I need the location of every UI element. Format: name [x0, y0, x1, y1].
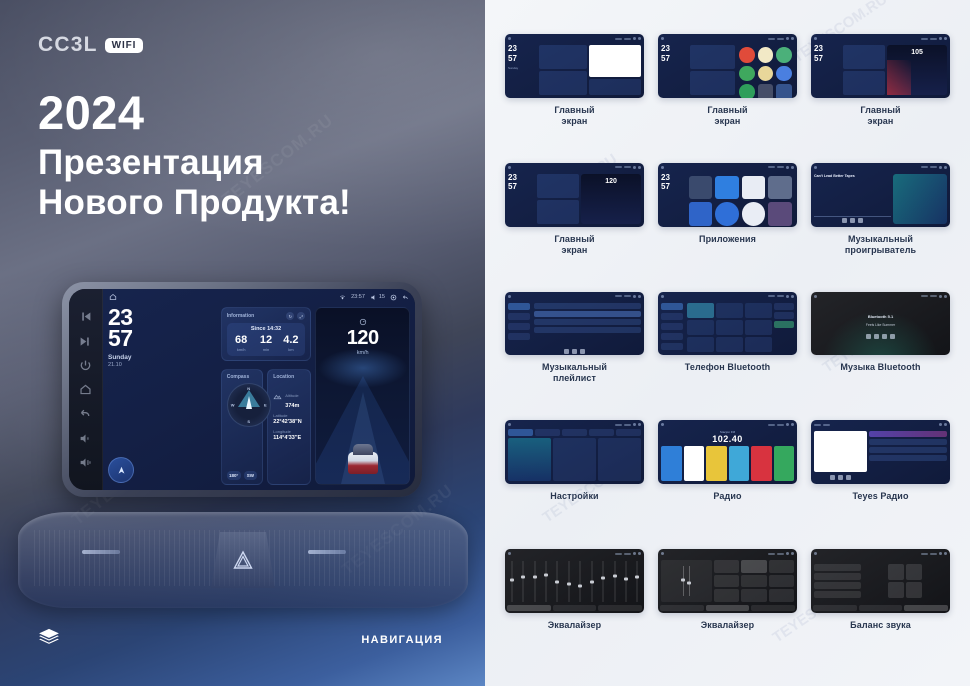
thumb-status-bar [658, 163, 797, 172]
longitude-label: Longitude [273, 429, 305, 434]
location-title: Location [273, 374, 305, 380]
thumb-body [505, 301, 644, 349]
thumb-status-bar [658, 292, 797, 301]
tile-caption: Эквалайзер [548, 620, 601, 631]
hud-speed-unit: km/h [316, 350, 409, 356]
thumb-clock-min: 57 [661, 55, 688, 63]
playlist-controls[interactable] [505, 348, 644, 355]
compass-south-label: S [247, 419, 250, 424]
thumb-status-bar [658, 420, 797, 429]
thumb-clock: 23 [508, 45, 537, 53]
home-screen-body: 23 57 Sunday 21.10 Information [103, 305, 415, 490]
headline-line-1: Презентация [38, 143, 351, 184]
unit-screen: 23:57 15 23 57 Sunday 21.10 [103, 289, 415, 490]
tile-equalizer-bands[interactable]: Эквалайзер [505, 549, 644, 668]
refresh-icon[interactable]: ↻ [286, 312, 294, 320]
vent-highlight-left [82, 550, 120, 554]
hud-speed-value: 120 [316, 328, 409, 348]
altitude-row: Altitude 374m [273, 384, 305, 409]
tile-playlist[interactable]: Музыкальный плейлист [505, 292, 644, 411]
information-title: Information [227, 313, 255, 319]
tile-caption: Музыка Bluetooth [840, 362, 920, 373]
hardware-button-column[interactable] [69, 289, 103, 490]
thumb-clock: 23 [661, 45, 688, 53]
thumb-body: 2357Sunday [505, 43, 644, 98]
balance-seat-grid[interactable] [888, 564, 922, 598]
thumb-status-bar [658, 549, 797, 558]
headline: 2024 Презентация Нового Продукта! [38, 88, 351, 224]
thumb-clock-min: 57 [508, 55, 537, 63]
stat-value: 68 [229, 335, 254, 346]
tile-caption: Главный экран [554, 105, 594, 127]
thumb-status-bar [505, 420, 644, 429]
player-controls[interactable] [814, 217, 891, 224]
thumb-status-bar [811, 163, 950, 172]
latitude-value: 22°42'38"N [273, 419, 305, 425]
tile-caption: Телефон Bluetooth [685, 362, 771, 373]
compass-readout: 180° SW [227, 468, 258, 480]
playlist-sidebar[interactable] [508, 303, 532, 346]
bt-version-label: Bluetooth 5.1 [868, 314, 893, 319]
volume-icon [370, 294, 377, 301]
thumb-status-bar [505, 34, 644, 43]
navigation-button[interactable] [108, 457, 134, 483]
radio-presets[interactable] [658, 444, 797, 484]
layers-icon[interactable] [38, 628, 60, 646]
speed-icon [359, 318, 367, 326]
information-actions[interactable]: ↻ ⤢ [286, 312, 305, 320]
status-volume-value: 15 [379, 294, 385, 300]
home-icon[interactable] [109, 293, 117, 301]
lower-widgets: Compass N E S W [221, 369, 312, 485]
gear-icon[interactable] [390, 294, 397, 301]
information-stats: 68 km/h 12 min 4.2 [229, 335, 304, 352]
stat-unit: km/h [229, 347, 254, 352]
tile-sound-balance[interactable]: Баланс звука [811, 549, 950, 668]
navigation-arrow-icon [116, 465, 127, 476]
dialer-sidebar[interactable] [661, 303, 685, 353]
preset-grid[interactable] [714, 560, 794, 602]
tile-bluetooth-phone[interactable]: Телефон Bluetooth [658, 292, 797, 411]
tile-caption: Главный экран [860, 105, 900, 127]
thumb-body: 2357 [658, 43, 797, 98]
hud-panel[interactable]: 120 km/h [315, 307, 410, 485]
teyes-controls[interactable] [814, 474, 867, 481]
thumbnail[interactable] [505, 292, 644, 356]
stat-value: 4.2 [278, 335, 303, 346]
thumb-body [505, 436, 644, 484]
clock-column: 23 57 Sunday 21.10 [108, 307, 217, 485]
thumb-status-bar [658, 34, 797, 43]
latitude-label: Latitude [273, 413, 305, 418]
equalizer-tabs[interactable] [811, 605, 950, 613]
equalizer-bands[interactable] [505, 558, 644, 605]
thumb-clock: 23 [508, 174, 535, 182]
dialer-keypad[interactable] [687, 303, 772, 353]
stat-item: 4.2 km [278, 335, 303, 352]
compass-direction: SW [244, 471, 258, 480]
dashboard-vents [18, 512, 468, 608]
grid-row: 2357Sunday Главный экран 2357 [505, 34, 950, 153]
car-roof [353, 444, 373, 455]
stat-unit: min [254, 347, 279, 352]
compass-east-label: E [264, 403, 267, 408]
thumb-body [811, 429, 950, 484]
head-unit-display: 23:57 15 23 57 Sunday 21.10 [69, 289, 415, 490]
thumbnail[interactable] [811, 420, 950, 484]
logo-text: CC3L [38, 33, 98, 57]
tile-caption: Эквалайзер [701, 620, 754, 631]
thumbnail[interactable]: 2357 [658, 163, 797, 227]
tile-radio[interactable]: Stacjon FM 102.40 Радио [658, 420, 797, 539]
compass-needle [246, 396, 252, 409]
app-grid[interactable] [687, 174, 794, 224]
expand-icon[interactable]: ⤢ [297, 312, 305, 320]
thumb-status-bar [811, 292, 950, 301]
tile-home-apps[interactable]: 2357 Главный экран [658, 34, 797, 153]
equalizer-tabs[interactable] [658, 605, 797, 613]
compass-heading: 180° [227, 471, 241, 480]
tile-caption: Teyes Радио [852, 491, 908, 502]
grid-row: Настройки Stacjon FM 102.40 Радио [505, 420, 950, 539]
thumb-body: 2357 [658, 172, 797, 227]
thumb-status-bar [505, 549, 644, 558]
back-icon[interactable] [79, 407, 92, 420]
hud-speed-block: 120 km/h [316, 318, 409, 356]
navigation-label: НАВИГАЦИЯ [361, 634, 443, 646]
status-volume: 15 [370, 294, 385, 301]
thumb-status-bar [811, 549, 950, 558]
home-icon[interactable] [79, 383, 92, 396]
volume-up-icon[interactable] [79, 456, 92, 469]
thumb-body: 2357 105 [811, 43, 950, 98]
stat-item: 68 km/h [229, 335, 254, 352]
latitude-row: Latitude 22°42'38"N [273, 413, 305, 425]
tile-caption: Настройки [550, 491, 598, 502]
thumb-weekday: Sunday [508, 66, 537, 70]
information-header: Information ↻ ⤢ [227, 312, 306, 320]
tile-apps[interactable]: 2357 Приложения [658, 163, 797, 282]
tile-music-player[interactable]: Can't Lead Better Tapes Музыкальный прои… [811, 163, 950, 282]
tile-caption: Главный экран [707, 105, 747, 127]
grid-row: Эквалайзер [505, 549, 950, 668]
clock-date: 21.10 [108, 362, 217, 368]
tile-caption: Музыкальный плейлист [542, 362, 607, 384]
thumbnail[interactable] [505, 420, 644, 484]
thumbnail[interactable]: 2357 105 [811, 34, 950, 98]
settings-tabs[interactable] [505, 429, 644, 436]
thumbnail[interactable]: 2357 [658, 34, 797, 98]
logo-wifi-badge: WIFI [105, 38, 144, 53]
back-icon[interactable] [402, 294, 409, 301]
compass-north-label: N [247, 386, 250, 391]
widget-column: Information ↻ ⤢ Since 14:32 [221, 307, 312, 485]
next-track-icon[interactable] [79, 335, 92, 348]
thumb-status-bar [505, 292, 644, 301]
thumbnail[interactable] [811, 549, 950, 613]
prev-track-icon[interactable] [79, 310, 92, 323]
hazard-button[interactable] [211, 532, 275, 588]
thumb-hud-speed: 105 [911, 49, 923, 56]
tile-caption: Радио [713, 491, 741, 502]
power-icon[interactable] [79, 359, 92, 372]
grid-row: Музыкальный плейлист Телефон Bluetooth [505, 292, 950, 411]
altitude-label: Altitude [285, 393, 298, 398]
screenshot-grid-panel: TEYESCOM.RU TEYESCOM.RU TEYESCOM.RU TEYE… [485, 0, 970, 686]
stat-value: 12 [254, 335, 279, 346]
car-graphic [346, 444, 380, 474]
player-track-title: Can't Lead Better Tapes [814, 174, 891, 178]
tile-teyes-radio[interactable]: Teyes Радио [811, 420, 950, 539]
thumbnail[interactable] [658, 292, 797, 356]
tile-caption: Приложения [699, 234, 756, 245]
thumb-body [658, 558, 797, 605]
thumb-body [658, 301, 797, 356]
thumbnail[interactable]: 2357Sunday [505, 34, 644, 98]
tile-settings[interactable]: Настройки [505, 420, 644, 539]
location-card[interactable]: Location Altitude 374m [267, 369, 311, 485]
mountain-icon [273, 392, 282, 401]
tile-home-hud[interactable]: 2357 105 Главный экран [811, 34, 950, 153]
thumb-status-bar [811, 34, 950, 43]
radio-frequency: 102.40 [658, 434, 797, 444]
thumbnail[interactable]: Stacjon FM 102.40 [658, 420, 797, 484]
thumb-body: 2357 120 [505, 172, 644, 227]
thumbnail[interactable]: Can't Lead Better Tapes [811, 163, 950, 227]
product-logo: CC3L WIFI [38, 33, 143, 57]
compass-west-label: W [231, 403, 235, 408]
stat-unit: km [278, 347, 303, 352]
thumb-body: Bluetooth 5.1 Feels Like Summer [811, 301, 950, 356]
thumb-clock-min: 57 [814, 55, 841, 63]
head-unit: 23:57 15 23 57 Sunday 21.10 [62, 282, 422, 497]
teyes-station-list[interactable] [869, 431, 947, 481]
hero-panel: TEYESCOM.RU TEYESCOM.RU TEYESCOM.RU CC3L… [0, 0, 485, 686]
thumb-clock: 23 [661, 174, 685, 182]
altitude-value: 374m [285, 403, 299, 409]
tile-equalizer-presets[interactable]: Эквалайзер [658, 549, 797, 668]
clock-weekday: Sunday [108, 354, 217, 361]
longitude-row: Longitude 114°4'33"E [273, 429, 305, 441]
presentation-slide: TEYESCOM.RU TEYESCOM.RU TEYESCOM.RU CC3L… [0, 0, 970, 686]
vent-shell [18, 512, 468, 608]
tile-caption: Музыкальный проигрыватель [845, 234, 916, 256]
bt-track-title: Feels Like Summer [866, 323, 895, 327]
player-visualizer [893, 174, 947, 224]
headline-year: 2024 [38, 88, 351, 139]
stat-item: 12 min [254, 335, 279, 352]
car-body [348, 452, 378, 474]
headline-line-2: Нового Продукта! [38, 183, 351, 224]
thumb-hud-speed: 120 [605, 178, 617, 185]
status-bar: 23:57 15 [103, 289, 415, 305]
information-body: Since 14:32 68 km/h 12 min [227, 323, 306, 356]
tile-home-hud2[interactable]: 2357 120 Главный экран [505, 163, 644, 282]
thumb-clock-min: 57 [661, 183, 685, 191]
wifi-icon [339, 294, 346, 301]
tile-caption: Баланс звука [850, 620, 911, 631]
vent-highlight-right [308, 550, 346, 554]
thumb-clock: 23 [814, 45, 841, 53]
grid-row: 2357 120 Главный экран 2357 [505, 163, 950, 282]
information-since: Since 14:32 [229, 326, 304, 332]
balance-options[interactable] [814, 564, 861, 598]
information-card[interactable]: Information ↻ ⤢ Since 14:32 [221, 307, 312, 361]
thumbnail[interactable]: Bluetooth 5.1 Feels Like Summer [811, 292, 950, 356]
tile-bluetooth-music[interactable]: Bluetooth 5.1 Feels Like Summer Музыка B… [811, 292, 950, 411]
compass-dial: N E S W [227, 383, 271, 427]
compass-card[interactable]: Compass N E S W [221, 369, 264, 485]
thumb-clock-min: 57 [508, 183, 535, 191]
thumb-status-bar [811, 420, 950, 429]
equalizer-tabs[interactable] [505, 605, 644, 613]
thumbnail[interactable]: 2357 120 [505, 163, 644, 227]
thumb-body [811, 558, 950, 605]
hazard-triangle-icon [232, 550, 254, 570]
longitude-value: 114°4'33"E [273, 435, 305, 441]
status-time: 23:57 [351, 294, 365, 300]
bt-controls[interactable] [866, 333, 895, 340]
thumb-body: Can't Lead Better Tapes [811, 172, 950, 227]
tile-caption: Главный экран [554, 234, 594, 256]
compass-title: Compass [227, 374, 258, 380]
thumbnail[interactable] [505, 549, 644, 613]
volume-down-icon[interactable] [79, 432, 92, 445]
hud-column: 120 km/h [315, 307, 410, 485]
thumb-status-bar [505, 163, 644, 172]
thumbnail[interactable] [658, 549, 797, 613]
playlist-rows[interactable] [534, 303, 641, 346]
clock-minutes: 57 [108, 328, 217, 349]
tile-home-media[interactable]: 2357Sunday Главный экран [505, 34, 644, 153]
